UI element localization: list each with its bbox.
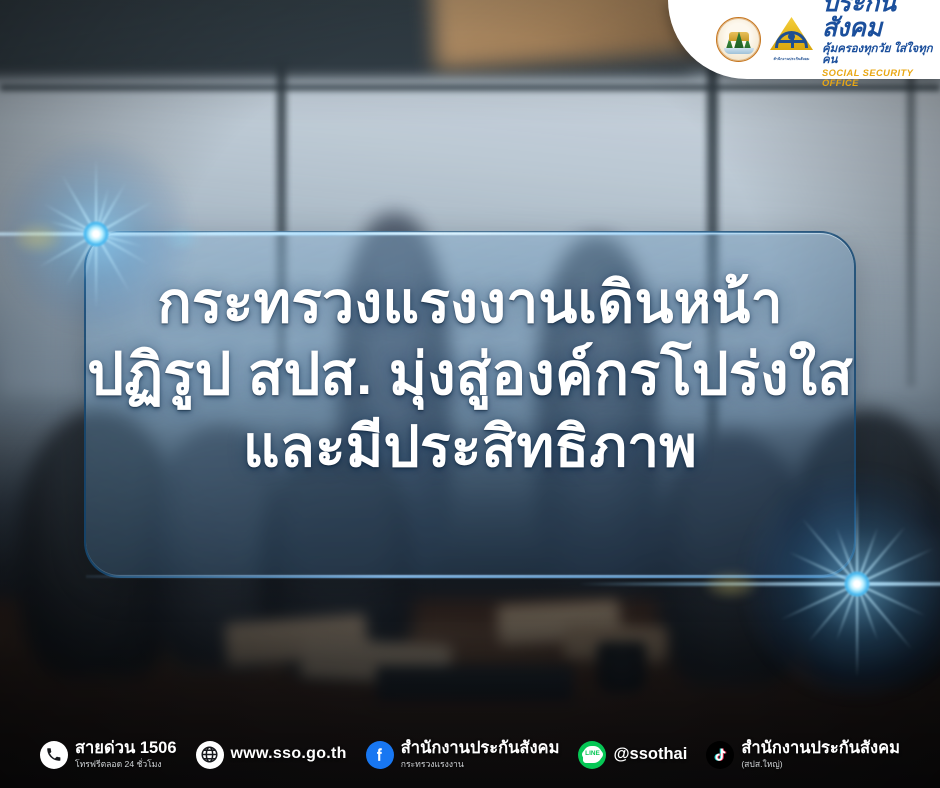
tiktok-icon	[706, 741, 734, 769]
contact-item-website[interactable]: www.sso.go.th	[196, 741, 347, 769]
facebook-icon	[366, 741, 394, 769]
brand-title-english: SOCIAL SECURITY OFFICE	[822, 69, 940, 88]
contact-item-line[interactable]: LINE @ssothai	[578, 741, 687, 769]
hotline-number: สายด่วน 1506	[75, 740, 177, 757]
mark-bar	[777, 40, 806, 43]
headline-block: กระทรวงแรงงานเดินหน้า ปฏิรูป สปส. มุ่งสู…	[0, 268, 940, 483]
line-account-id: @ssothai	[613, 746, 687, 763]
contact-text-line: @ssothai	[613, 746, 687, 763]
contact-item-tiktok[interactable]: สำนักงานประกันสังคม (สปส.ใหญ่)	[706, 740, 900, 769]
brand-lockup: ประกันสังคม คุ้มครองทุกวัย ใส่ใจทุกคน SO…	[822, 0, 940, 88]
tiktok-account-name: สำนักงานประกันสังคม	[741, 740, 900, 757]
headline-line-1: กระทรวงแรงงานเดินหน้า	[14, 268, 926, 339]
headline-line-2: ปฏิรูป สปส. มุ่งสู่องค์กรโปร่งใส	[14, 339, 926, 412]
poster-canvas: กระทรวงแรงงานเดินหน้า ปฏิรูป สปส. มุ่งสู…	[0, 0, 940, 788]
facebook-page-sub: กระทรวงแรงงาน	[401, 760, 560, 769]
phone-icon	[40, 741, 68, 769]
emblem-artwork	[723, 25, 755, 55]
mark-caption: สำนักงานประกันสังคม	[768, 58, 815, 62]
contact-text-facebook: สำนักงานประกันสังคม กระทรวงแรงงาน	[401, 740, 560, 769]
globe-icon	[196, 741, 224, 769]
contact-footer-bar: สายด่วน 1506 โทรฟรีตลอด 24 ชั่วโมง www.s…	[0, 740, 940, 769]
brand-title-thai: ประกันสังคม	[822, 0, 940, 41]
headline-line-3: และมีประสิทธิภาพ	[14, 412, 926, 483]
contact-item-hotline[interactable]: สายด่วน 1506 โทรฟรีตลอด 24 ชั่วโมง	[40, 740, 177, 769]
line-bubble: LINE	[583, 746, 602, 763]
emblem-base	[724, 48, 754, 54]
tiktok-account-sub: (สปส.ใหญ่)	[741, 760, 900, 769]
facebook-page-name: สำนักงานประกันสังคม	[401, 740, 560, 757]
social-security-office-mark-icon: สำนักงานประกันสังคม	[768, 17, 815, 62]
sso-logo-badge[interactable]: สำนักงานประกันสังคม ประกันสังคม คุ้มครอง…	[668, 0, 940, 79]
contact-text-hotline: สายด่วน 1506 โทรฟรีตลอด 24 ชั่วโมง	[75, 740, 177, 769]
brand-tagline-thai: คุ้มครองทุกวัย ใส่ใจทุกคน	[822, 44, 940, 67]
thai-royal-garuda-emblem-icon	[716, 17, 761, 62]
line-wordmark: LINE	[582, 750, 604, 760]
contact-text-website: www.sso.go.th	[231, 746, 347, 763]
hotline-note: โทรฟรีตลอด 24 ชั่วโมง	[75, 760, 177, 769]
contact-text-tiktok: สำนักงานประกันสังคม (สปส.ใหญ่)	[741, 740, 900, 769]
line-icon: LINE	[578, 741, 606, 769]
contact-item-facebook[interactable]: สำนักงานประกันสังคม กระทรวงแรงงาน	[366, 740, 560, 769]
website-url: www.sso.go.th	[231, 746, 347, 763]
